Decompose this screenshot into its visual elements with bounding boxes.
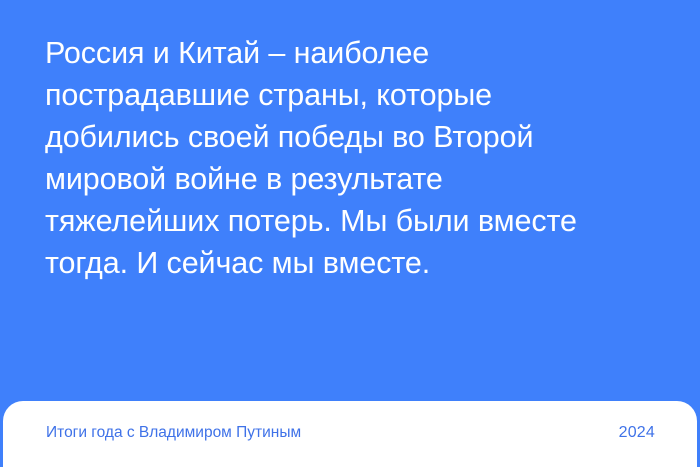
quote-line: пострадавшие страны, которые [45,74,665,116]
quote-block: Россия и Китай – наиболее пострадавшие с… [45,32,665,284]
footer-panel: Итоги года с Владимиром Путиным 2024 [3,401,697,467]
quote-card: Россия и Китай – наиболее пострадавшие с… [0,0,700,467]
footer-caption: Итоги года с Владимиром Путиным [46,423,301,443]
quote-line: тогда. И сейчас мы вместе. [45,242,665,284]
quote-line: добились своей победы во Второй [45,116,665,158]
quote-line: Россия и Китай – наиболее [45,32,665,74]
quote-line: тяжелейших потерь. Мы были вместе [45,200,665,242]
quote-line: мировой войне в результате [45,158,665,200]
footer-row: Итоги года с Владимиром Путиным 2024 [46,423,655,443]
footer-year: 2024 [619,423,655,443]
